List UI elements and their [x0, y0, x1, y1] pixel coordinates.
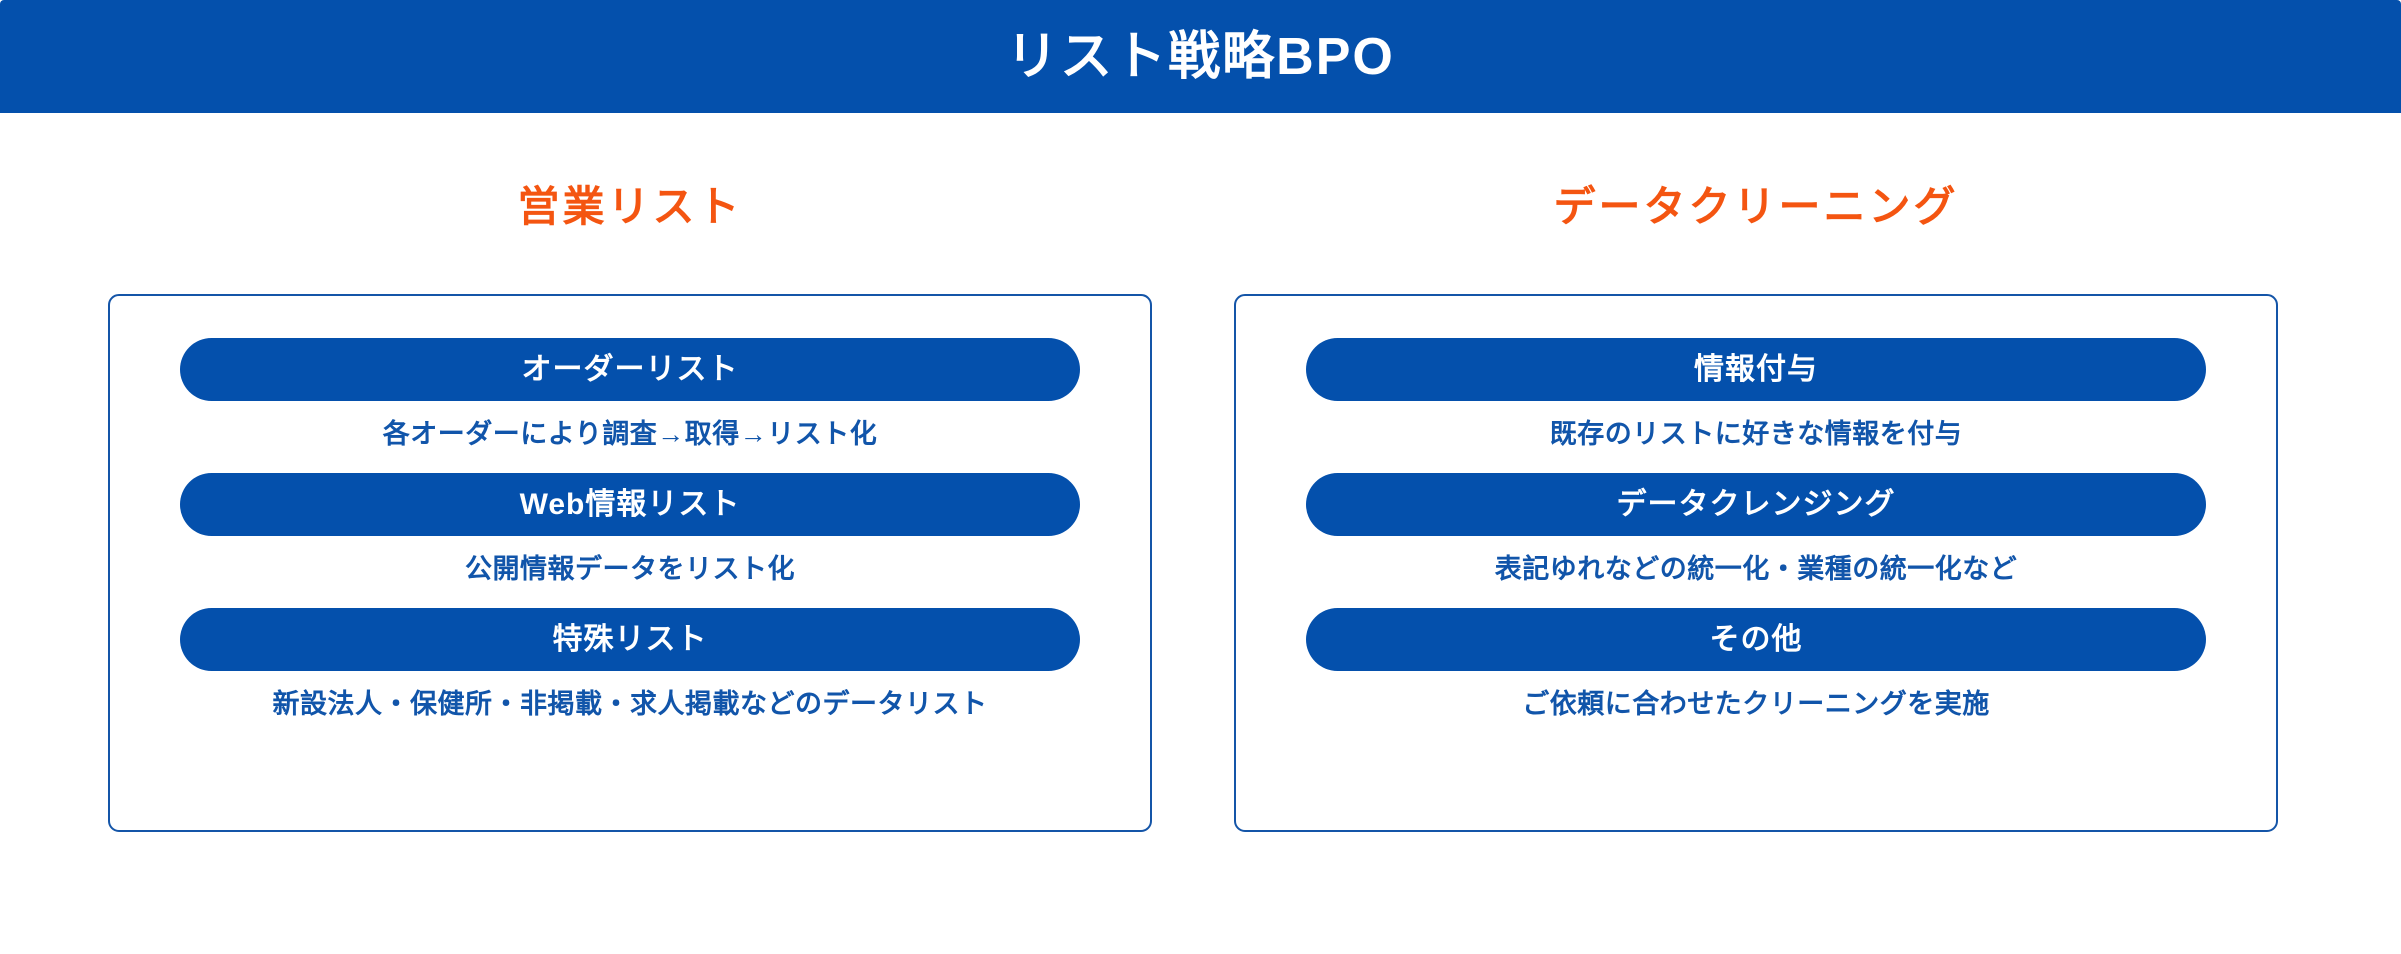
service-description: 公開情報データをリスト化 — [110, 556, 1150, 583]
service-item: Web情報リスト 公開情報データをリスト化 — [110, 473, 1150, 583]
service-columns: 営業リスト オーダーリスト 各オーダーにより調査→取得→リスト化 Web情報リス… — [0, 113, 2401, 954]
service-pill-label: その他 — [1710, 625, 1803, 655]
service-description: 既存のリストに好きな情報を付与 — [1236, 421, 2276, 448]
service-pill-other[interactable]: その他 — [1306, 608, 2206, 671]
service-pill-special-list[interactable]: 特殊リスト — [180, 608, 1080, 671]
service-pill-web-info-list[interactable]: Web情報リスト — [180, 473, 1080, 536]
service-description: 表記ゆれなどの統一化・業種の統一化など — [1236, 556, 2276, 583]
service-pill-data-cleansing[interactable]: データクレンジング — [1306, 473, 2206, 536]
card-data-cleaning: 情報付与 既存のリストに好きな情報を付与 データクレンジング 表記ゆれなどの統一… — [1234, 294, 2278, 832]
column-heading-data-cleaning: データクリーニング — [1234, 186, 2278, 228]
service-pill-label: オーダーリスト — [522, 355, 739, 385]
card-inner-data-cleaning: 情報付与 既存のリストに好きな情報を付与 データクレンジング 表記ゆれなどの統一… — [1236, 296, 2276, 830]
page-title: リスト戦略BPO — [1006, 31, 1395, 83]
service-description: 新設法人・保健所・非掲載・求人掲載などのデータリスト — [110, 691, 1150, 718]
card-inner-sales-list: オーダーリスト 各オーダーにより調査→取得→リスト化 Web情報リスト 公開情報… — [110, 296, 1150, 830]
service-item: その他 ご依頼に合わせたクリーニングを実施 — [1236, 608, 2276, 718]
service-item: 特殊リスト 新設法人・保健所・非掲載・求人掲載などのデータリスト — [110, 608, 1150, 718]
service-pill-information-append[interactable]: 情報付与 — [1306, 338, 2206, 401]
page-header-banner: リスト戦略BPO — [0, 0, 2401, 113]
service-item: 情報付与 既存のリストに好きな情報を付与 — [1236, 338, 2276, 448]
service-pill-label: 情報付与 — [1694, 355, 1818, 385]
service-item: オーダーリスト 各オーダーにより調査→取得→リスト化 — [110, 338, 1150, 448]
service-description: 各オーダーにより調査→取得→リスト化 — [110, 421, 1150, 448]
service-description: ご依頼に合わせたクリーニングを実施 — [1236, 691, 2276, 718]
service-pill-label: 特殊リスト — [553, 625, 708, 655]
column-heading-sales-list: 営業リスト — [108, 186, 1152, 228]
service-item: データクレンジング 表記ゆれなどの統一化・業種の統一化など — [1236, 473, 2276, 583]
service-pill-order-list[interactable]: オーダーリスト — [180, 338, 1080, 401]
service-pill-label: データクレンジング — [1617, 490, 1896, 520]
card-sales-list: オーダーリスト 各オーダーにより調査→取得→リスト化 Web情報リスト 公開情報… — [108, 294, 1152, 832]
service-pill-label: Web情報リスト — [520, 490, 741, 520]
